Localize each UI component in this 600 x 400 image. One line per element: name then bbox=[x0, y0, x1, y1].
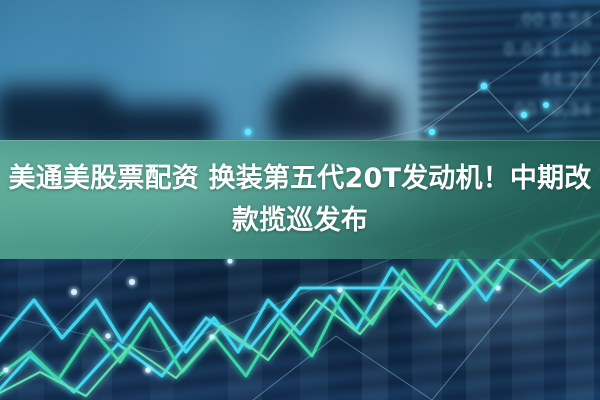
chart-data-point bbox=[129, 279, 135, 285]
chart-data-point bbox=[209, 334, 214, 339]
chart-data-point bbox=[437, 304, 443, 310]
chart-data-point bbox=[227, 258, 232, 263]
chart-data-point bbox=[495, 285, 500, 290]
chart-data-point bbox=[105, 333, 110, 338]
chart-data-point bbox=[429, 129, 435, 135]
chart-data-point bbox=[71, 289, 77, 295]
chart-data-point bbox=[3, 367, 8, 372]
chart-data-point bbox=[145, 367, 151, 373]
headline-line-1: 美通美股票配资 换装第五代20T发动机！中期改 bbox=[9, 159, 592, 199]
chart-data-point bbox=[337, 287, 342, 292]
page-title: 美通美股票配资 换装第五代20T发动机！中期改 款揽巡发布 bbox=[0, 140, 600, 259]
chart-data-point bbox=[481, 83, 488, 90]
chart-data-point bbox=[245, 129, 251, 135]
chart-line-faint-node-link-right bbox=[424, 44, 600, 132]
news-banner-image: .00 0.54 0.04 1.40 44.23 .00 -0,34 bbox=[0, 0, 600, 400]
headline-line-2: 款揽巡发布 bbox=[232, 201, 368, 241]
chart-data-point bbox=[521, 112, 527, 118]
chart-data-point bbox=[543, 102, 549, 108]
